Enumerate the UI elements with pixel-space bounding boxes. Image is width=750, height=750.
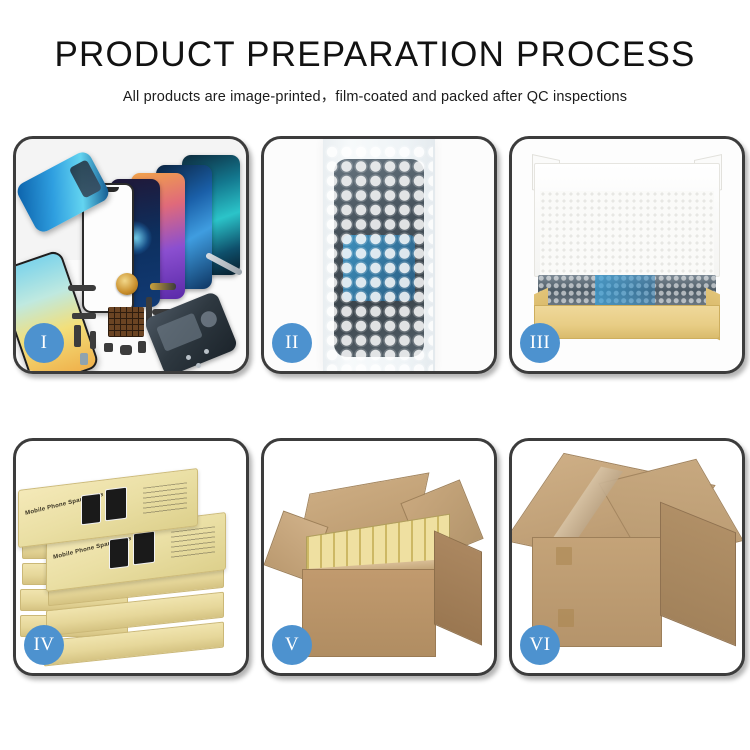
step-panel-3[interactable]: III [509, 136, 745, 374]
step-panel-5[interactable]: V [261, 438, 497, 676]
step-panel-2[interactable]: II [261, 136, 497, 374]
badge-step-6: VI [520, 625, 560, 665]
copper-coil-part [116, 273, 138, 295]
badge-step-5: V [272, 625, 312, 665]
step-panel-1[interactable]: I [13, 136, 249, 374]
foam-liner [540, 191, 714, 279]
page-subtitle: All products are image-printed，film-coat… [0, 74, 750, 106]
carton-front-panel [302, 569, 436, 657]
spare-parts-group [68, 269, 244, 369]
chip-grid-part [108, 307, 144, 337]
step-panel-6[interactable]: VI [509, 438, 745, 676]
box-front-panel [534, 305, 720, 339]
badge-step-2: II [272, 323, 312, 363]
badge-step-1: I [24, 323, 64, 363]
phone-back-housing-part [143, 291, 239, 371]
step-panel-4[interactable]: Mobile Phone Spare Parts Mobile Phone Sp… [13, 438, 249, 676]
badge-step-4: IV [24, 625, 64, 665]
header: PRODUCT PREPARATION PROCESS All products… [0, 0, 750, 106]
bubble-wrapped-item-inside [538, 275, 716, 305]
bubble-texture [325, 145, 433, 371]
page-title: PRODUCT PREPARATION PROCESS [0, 0, 750, 74]
badge-step-3: III [520, 323, 560, 363]
process-step-grid: I II III [13, 136, 737, 676]
